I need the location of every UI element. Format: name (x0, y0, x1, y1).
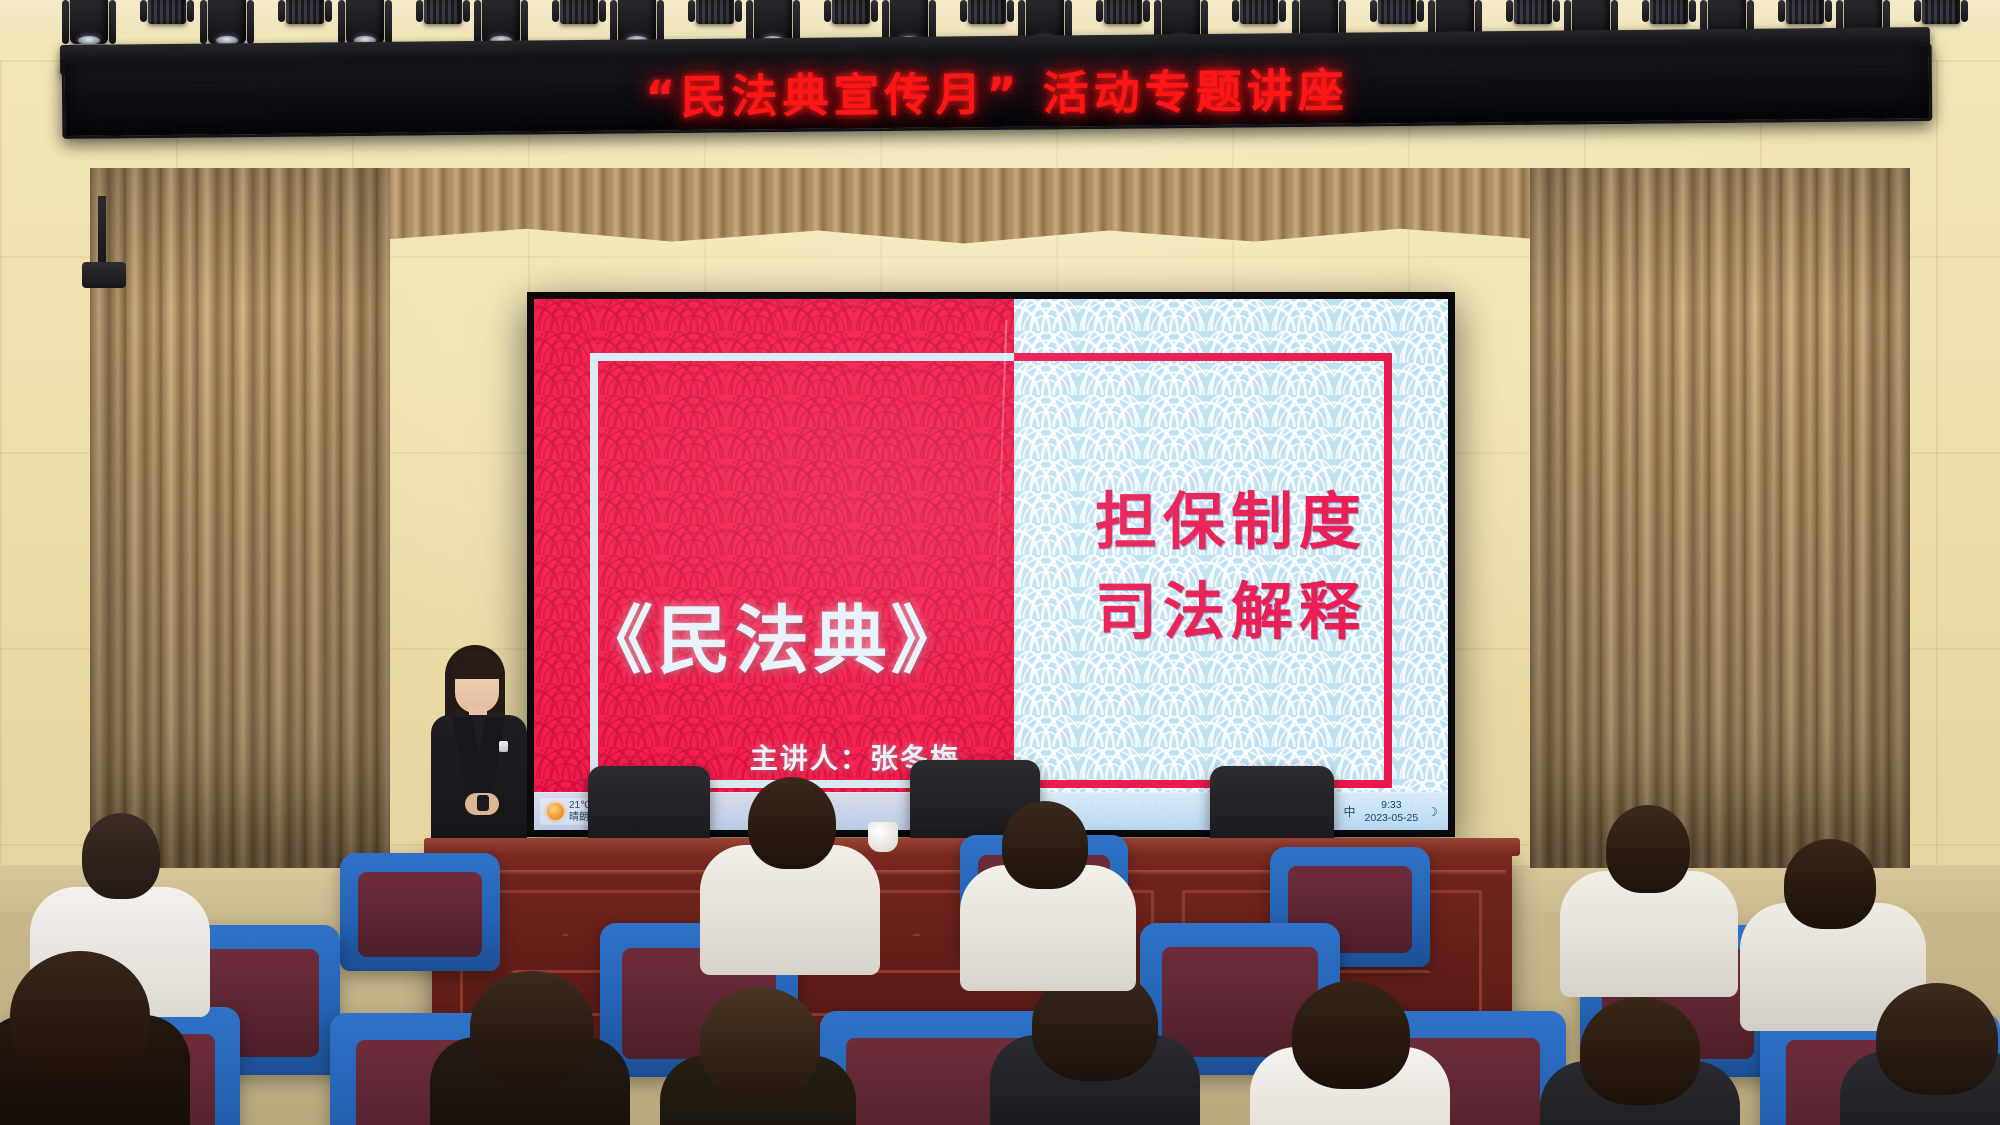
presentation-slide[interactable]: 《民法典》 主讲人：张冬梅 担保制度 司法解释 (534, 299, 1448, 830)
slide-subtitle-group: 担保制度 司法解释 (1014, 477, 1448, 657)
audience-chair (340, 853, 500, 971)
stage-curtain-right (1530, 168, 1910, 868)
slide-right-panel: 担保制度 司法解释 (1014, 299, 1448, 830)
stage-curtain-left (90, 168, 390, 868)
lapel-badge-icon (499, 741, 508, 752)
audience-member-head (748, 777, 836, 869)
projection-screen-frame: 《民法典》 主讲人：张冬梅 担保制度 司法解释 (527, 292, 1455, 837)
led-banner-text: “民法典宣传月” 活动专题讲座 (645, 55, 1349, 128)
microphone-stand (98, 196, 106, 272)
slide-main-title: 《民法典》 (534, 581, 1014, 688)
audience-member-head (1580, 997, 1700, 1105)
lecture-hall-photo: “民法典宣传月” 活动专题讲座 《民法典》 主讲人：张冬梅 担保制度 司法解释 (0, 0, 2000, 1125)
audience-member-head (10, 951, 150, 1081)
slide-left-inner-border (590, 353, 1014, 788)
audience-member-head (1876, 983, 1998, 1095)
slide-subtitle-line-2: 司法解释 (1014, 567, 1448, 657)
audience-member-head (82, 813, 160, 899)
audience-member-head (1292, 981, 1410, 1089)
slide-subtitle-line-1: 担保制度 (1014, 477, 1448, 567)
audience-member-head (470, 971, 594, 1083)
slide-left-panel: 《民法典》 主讲人：张冬梅 (534, 299, 1014, 830)
audience-member-head (1606, 805, 1690, 893)
audience-member-head (1002, 801, 1088, 889)
audience-member-head (1784, 839, 1876, 929)
microphone-base (82, 262, 126, 288)
audience-seating-area (0, 775, 2000, 1125)
audience-member-head (700, 987, 820, 1099)
